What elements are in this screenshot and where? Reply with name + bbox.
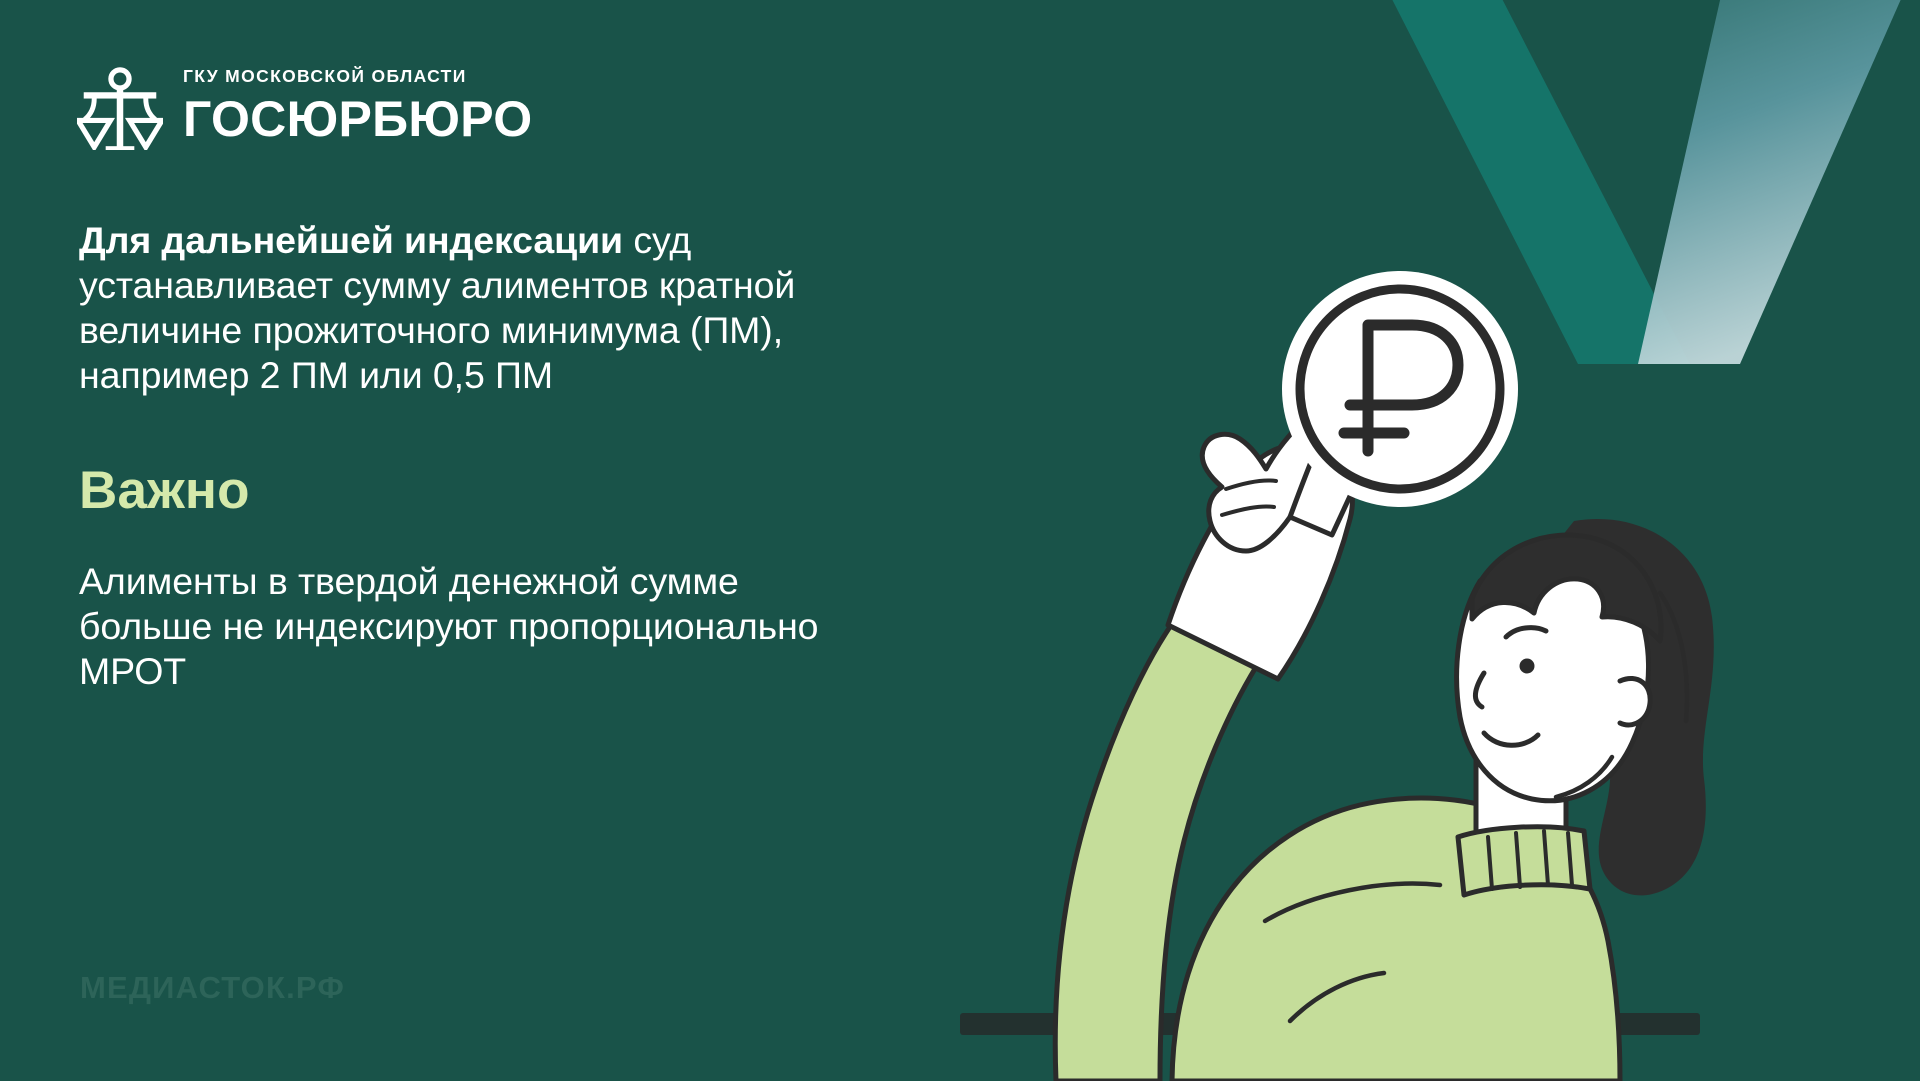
hand [1202,414,1346,551]
infographic-canvas: ГКУ МОСКОВСКОЙ ОБЛАСТИ ГОСЮРБЮРО Для дал… [0,0,1920,1081]
logo-subtitle: ГКУ МОСКОВСКОЙ ОБЛАСТИ [183,68,532,86]
text-content: Для дальнейшей индексации суд устанавлив… [79,218,869,694]
jaw-line [1556,757,1612,797]
scales-of-justice-icon [77,66,163,150]
nose [1475,673,1484,707]
paragraph-indexation: Для дальнейшей индексации суд устанавлив… [79,218,869,398]
shoulder-crease-1 [1265,884,1440,921]
important-heading: Важно [79,464,869,517]
v-right-stroke [1638,0,1920,364]
face [1457,553,1649,801]
ear [1620,678,1650,724]
desk-bar [960,1013,1700,1035]
ruble-symbol [1344,325,1458,451]
sweater-sleeve [1055,621,1256,1081]
hair-back [1547,519,1714,895]
woman-holding-ruble-coin-illustration [960,221,1920,1081]
watermark: МЕДИАСТОК.РФ [80,972,345,1003]
eye [1520,659,1535,674]
coin-outer-ring [1300,289,1500,489]
neck [1476,757,1566,849]
collar [1458,827,1590,895]
v-left-stroke [1370,0,1690,364]
brand-logo[interactable]: ГКУ МОСКОВСКОЙ ОБЛАСТИ ГОСЮРБЮРО [77,62,532,150]
mouth-smile [1484,733,1538,745]
knuckle-line-1 [1226,480,1276,489]
paragraph-mrot: Алименты в твердой денежной сумме больше… [79,559,869,694]
logo-title: ГОСЮРБЮРО [183,92,532,146]
sweater-body [1172,798,1620,1081]
hair-strand [1660,593,1687,721]
decorative-v-shape [1360,0,1920,366]
paragraph-lead: Для дальнейшей индексации [79,219,623,261]
index-finger [1290,393,1383,535]
coin-disc [1282,271,1518,507]
shoulder-crease-2 [1290,973,1384,1021]
collar-ribs [1488,831,1572,889]
eyebrow [1506,628,1546,637]
forearm [1168,445,1352,679]
knuckle-line-2 [1222,506,1274,515]
hair-fringe [1472,535,1661,641]
